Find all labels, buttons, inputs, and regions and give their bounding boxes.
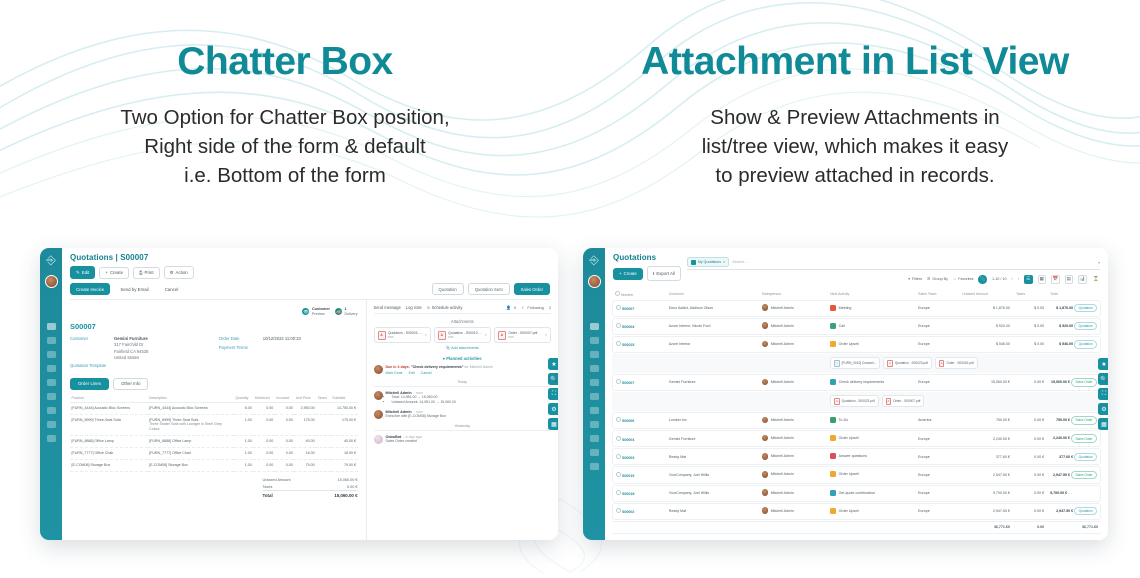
cell-taxes xyxy=(316,459,331,471)
cell-salesperson: Mitchell Admin xyxy=(759,318,827,335)
order-line-row[interactable]: [FURN_8999] Three-Seat Sofa[FURN_8999] T… xyxy=(70,414,358,436)
list-breadcrumb: Quotations xyxy=(613,253,681,262)
filters-button[interactable]: ▾Filters xyxy=(908,277,922,281)
attachment-chip[interactable]: AOrder - S00015.pdf xyxy=(935,357,978,369)
sidebar-icon-home-right[interactable] xyxy=(590,323,599,330)
quotations-table: Number Customer Salesperson Next Activit… xyxy=(612,288,1101,535)
action-button[interactable]: ⚙Action xyxy=(164,266,194,279)
total-grand-label: Total xyxy=(263,493,273,498)
cell-total: 9,700.00 € Quotation Sent xyxy=(1047,485,1101,502)
pager-previous-button[interactable]: ‹ xyxy=(1012,277,1013,281)
cell-untaxed: 750.00 € xyxy=(959,412,1013,429)
export-all-button[interactable]: ⭳Export All xyxy=(647,266,681,281)
activity-subject: "Check delivery requirements" xyxy=(411,365,464,369)
cell-untaxed: 377.60 € xyxy=(959,448,1013,465)
edit-button[interactable]: ✎Edit xyxy=(70,266,95,279)
view-calendar-icon[interactable]: 📅 xyxy=(1051,275,1060,284)
cancel-label: Cancel xyxy=(165,287,179,292)
foot-blank-4 xyxy=(827,521,915,534)
odoo-sidebar-left[interactable]: ⎆ xyxy=(40,248,62,540)
attachment-chip[interactable]: ▢[FURN_0010] Customi... xyxy=(830,357,880,369)
screenshot-list-view: ⎆ Quotations +Create ⭳Export All xyxy=(583,248,1108,540)
following-label: Following xyxy=(527,305,543,310)
lv-col-number-label: Number xyxy=(621,293,633,297)
sidebar-icon-attendance-right[interactable] xyxy=(590,435,599,442)
attachment-remove-icon[interactable]: × xyxy=(425,333,427,337)
cell-next-activity: Call xyxy=(827,318,915,335)
order-line-row[interactable]: [FURN_8888] Office Lamp[FURN_8888] Offic… xyxy=(70,436,358,448)
heading-title-left: Chatter Box xyxy=(0,40,570,85)
col-product[interactable]: Product xyxy=(70,394,148,403)
sidebar-icon-settings[interactable] xyxy=(47,435,56,442)
send-message-button[interactable]: Send message xyxy=(374,305,401,310)
cell-salesperson: Mitchell Admin xyxy=(759,336,827,353)
cell-next-activity: Answer questions xyxy=(827,448,915,465)
pdf-icon: A xyxy=(834,398,840,405)
cell-delivered: 0.00 xyxy=(253,402,275,414)
cell-salesperson: Mitchell Admin xyxy=(759,374,827,391)
record-number: S00002 xyxy=(622,510,634,514)
order-lines-table: Product Description Quantity Delivered I… xyxy=(70,394,358,472)
breadcrumb: Quotations | S00007 xyxy=(70,253,550,262)
cell-total: 15,060.00 € Sales Order xyxy=(1047,374,1101,391)
cell-subtotal: 175.00 € xyxy=(331,414,358,436)
order-line-row[interactable]: [FURN_7777] Office Chair[FURN_7777] Offi… xyxy=(70,448,358,460)
cell-number: S00007 xyxy=(612,300,666,317)
followers-count-value: 0 xyxy=(514,305,516,310)
cell-taxes: $ 0.00 xyxy=(1013,318,1047,335)
pager-next-button[interactable]: › xyxy=(1018,277,1019,281)
cell-number: S00025 xyxy=(612,336,666,353)
field-quotation-template-label: Quotation Template xyxy=(70,363,106,369)
row-checkbox[interactable] xyxy=(616,323,621,328)
attachment-remove-icon[interactable]: × xyxy=(485,333,487,337)
cell-subtotal: 14,750.00 € xyxy=(331,402,358,414)
cancel-button[interactable]: Cancel xyxy=(159,283,185,295)
cell-salesperson: Mitchell Admin xyxy=(759,412,827,429)
floating-toolbar-left: ★ 🔍 ⛶ ⚙ ▦ xyxy=(548,358,558,430)
activity-item: Due in 4 days: "Check delivery requireme… xyxy=(374,365,551,375)
cell-unit-price: 2,950.00 xyxy=(294,402,316,414)
totals-box: Untaxed Amount 15,060.00 € Taxes 0.00 € … xyxy=(263,477,358,500)
view-pivot-icon[interactable]: ▤ xyxy=(1065,275,1074,284)
order-line-row[interactable]: [E-COM08] Storage Box[E-COM08] Storage B… xyxy=(70,459,358,471)
planned-activities-label: ▾ Planned activities xyxy=(374,356,551,361)
avatar xyxy=(762,417,769,424)
activity-body: Due in 4 days: "Check delivery requireme… xyxy=(386,365,493,375)
cell-customer: Gemini Furniture xyxy=(666,430,759,447)
field-payment-terms: Payment Terms xyxy=(219,345,358,351)
print-button[interactable]: ⎙Print xyxy=(133,267,160,279)
stage-sales-order[interactable]: Sales Order xyxy=(514,283,550,295)
cell-taxes: $ 0.00 xyxy=(1013,300,1047,317)
sidebar-icon-purchase-right[interactable] xyxy=(590,379,599,386)
field-order-date: Order Date 10/12/2022 11:00:23 xyxy=(219,336,358,342)
group-by-button[interactable]: ☰Group By xyxy=(927,277,948,281)
search-icon[interactable]: 🔍 xyxy=(548,373,558,385)
heading-desc-right-line2: list/tree view, which makes it easy xyxy=(702,135,1008,158)
row-checkbox[interactable] xyxy=(616,379,621,384)
cell-unit-price: 175.00 xyxy=(294,414,316,436)
quotations-table-foot: 36,771.60 0.00 36,771.60 xyxy=(612,521,1101,534)
foot-taxes-total: 0.00 xyxy=(1013,521,1047,534)
col-delivered[interactable]: Delivered xyxy=(253,394,275,403)
pdf-icon: A xyxy=(378,331,386,340)
foot-blank-3 xyxy=(759,521,827,534)
cell-description: [FURN_8888] Office Lamp xyxy=(148,436,234,448)
list-top-right: My Quotations × Search... ▾ ▾Filters ☰Gr… xyxy=(687,253,1100,288)
cell-salesperson: Mitchell Admin xyxy=(759,485,827,502)
sidebar-icon-invoicing-right[interactable] xyxy=(590,351,599,358)
calendar-icon xyxy=(830,379,836,385)
attachment-row-chips: ▢[FURN_0010] Customi...AQuotation - S000… xyxy=(827,354,1101,373)
cell-sales-team: Europe xyxy=(915,448,959,465)
status-badge: Sales Order xyxy=(1071,471,1097,479)
col-invoiced[interactable]: Invoiced xyxy=(275,394,294,403)
cell-taxes xyxy=(316,448,331,460)
lv-col-customer[interactable]: Customer xyxy=(666,289,759,299)
lv-col-number[interactable]: Number xyxy=(612,289,666,299)
cell-description: [FURN_4444] Acoustic Bloc Screens xyxy=(148,402,234,414)
sidebar-icon-employees[interactable] xyxy=(47,421,56,428)
cell-invoiced: 0.00 xyxy=(275,414,294,436)
col-unit-price[interactable]: Unit Price xyxy=(294,394,316,403)
sidebar-icon-apps-right[interactable] xyxy=(590,449,599,456)
attachment-chip[interactable]: AOrder - S00007.pdfPDF× xyxy=(494,327,551,343)
cell-product: [FURN_8888] Office Lamp xyxy=(70,436,148,448)
lv-col-next-activity[interactable]: Next Activity xyxy=(827,289,915,299)
table-row[interactable]: S00002Ready MatMitchell AdminOrder Upsel… xyxy=(612,503,1101,520)
messages-today: Mitchell Admin- nowTotal: 14,981.00 → 15… xyxy=(374,391,551,419)
mark-done-button[interactable]: Mark Done xyxy=(386,371,403,375)
add-attachments-button[interactable]: 📎 Add attachments xyxy=(374,346,551,350)
record-number: S00007 xyxy=(622,381,634,385)
attachment-chip[interactable]: AQuotation - S00023.pdf xyxy=(883,357,931,369)
row-checkbox[interactable] xyxy=(616,436,621,441)
sidebar-icon-inventory-right[interactable] xyxy=(590,365,599,372)
sidebar-icon-settings-right[interactable] xyxy=(590,463,599,470)
cancel-activity-button[interactable]: Cancel xyxy=(421,371,432,375)
cell-taxes xyxy=(316,436,331,448)
print-button-label: Print xyxy=(145,270,154,275)
sidebar-icon-purchase[interactable] xyxy=(47,379,56,386)
tab-order-lines[interactable]: Order Lines xyxy=(70,378,109,390)
field-order-date-value[interactable]: 10/12/2022 11:00:23 xyxy=(263,336,301,342)
table-row[interactable]: S00004Gemini FurnitureMitchell AdminOrde… xyxy=(612,430,1101,447)
lv-col-sales-team[interactable]: Sales Team xyxy=(915,289,959,299)
record-number: S00006 xyxy=(622,419,634,423)
cell-customer: Lumber Inc xyxy=(666,412,759,429)
cell-customer: YourCompany, Joel Willis xyxy=(666,485,759,502)
followers-num[interactable]: 2 xyxy=(549,305,551,310)
cell-invoiced: 0.00 xyxy=(275,448,294,460)
attachment-row: ▢[FURN_0010] Customi...AQuotation - S000… xyxy=(612,354,1101,373)
col-quantity[interactable]: Quantity xyxy=(234,394,253,403)
status-badge: Quotation xyxy=(1074,507,1097,515)
list-view-body: Quotations +Create ⭳Export All My Quotat… xyxy=(605,248,1108,540)
view-activity-icon[interactable]: ⏳ xyxy=(1092,275,1101,284)
avatar xyxy=(762,304,769,311)
view-kanban-icon[interactable]: ▦ xyxy=(1038,275,1047,284)
calendar-icon xyxy=(830,490,836,496)
smart-label-1: Delivery xyxy=(345,312,358,316)
sidebar-icon-inventory[interactable] xyxy=(47,365,56,372)
customer-addr1: 317 Fairchild Dr xyxy=(114,342,148,348)
cell-taxes xyxy=(316,402,331,414)
filter-chip-label: My Quotations xyxy=(698,260,721,264)
log-note-button[interactable]: Log note xyxy=(406,305,422,310)
schedule-activity-button[interactable]: Schedule activity xyxy=(427,305,463,310)
table-row[interactable]: S00018YourCompany, Joel WillisMitchell A… xyxy=(612,485,1101,502)
followers-count[interactable]: 👤 0 xyxy=(506,305,516,310)
row-checkbox[interactable] xyxy=(616,508,621,513)
status-badge: Sales Order xyxy=(1071,416,1097,424)
cell-subtotal: 16.00 € xyxy=(331,448,358,460)
message-body: Mitchell Admin- nowExtra line with [E-CO… xyxy=(386,410,447,419)
cell-number: S00004 xyxy=(612,430,666,447)
cell-customer: Ready Mat xyxy=(666,503,759,520)
attachment-row-spacer xyxy=(612,392,827,411)
order-line-row[interactable]: [FURN_4444] Acoustic Bloc Screens[FURN_4… xyxy=(70,402,358,414)
cell-untaxed: $ 546.00 xyxy=(959,336,1013,353)
following-button[interactable]: ✓ Following xyxy=(521,305,544,310)
list-top-left: Quotations +Create ⭳Export All xyxy=(613,253,681,281)
sidebar-icon-sales[interactable] xyxy=(47,337,56,344)
lv-col-total[interactable]: Total xyxy=(1047,289,1101,299)
sidebar-icon-sales-right[interactable] xyxy=(590,337,599,344)
screenshot-form-view: ⎆ Quotations | S00007 ✎Edit +Create ⎙Pri… xyxy=(40,248,558,540)
search-bar: My Quotations × Search... ▾ xyxy=(687,253,1100,272)
eye-icon: 👁 xyxy=(302,308,309,315)
day-separator-today: Today xyxy=(374,380,551,387)
cell-number: S00006 xyxy=(612,412,666,429)
close-icon[interactable]: × xyxy=(723,260,725,264)
heading-desc-left: Two Option for Chatter Box position, Rig… xyxy=(0,103,570,190)
lv-col-salesperson[interactable]: Salesperson xyxy=(759,289,827,299)
user-avatar-right[interactable] xyxy=(588,275,601,288)
user-avatar[interactable] xyxy=(45,275,58,288)
tab-other-info[interactable]: Other Info xyxy=(113,378,149,390)
form-view-body: Quotations | S00007 ✎Edit +Create ⎙Print… xyxy=(62,248,558,540)
smart-button-customer-preview[interactable]: 👁 Customer Preview xyxy=(302,307,330,316)
status-badge: Quotation xyxy=(1074,453,1097,461)
cell-total: $ 520.00 Quotation xyxy=(1047,318,1101,335)
form-action-buttons: ✎Edit +Create ⎙Print ⚙Action xyxy=(70,266,550,279)
message-bullets: Total: 14,981.00 → 15,060.00Untaxed Amou… xyxy=(386,395,456,406)
lv-col-untaxed[interactable]: Untaxed Amount xyxy=(959,289,1013,299)
sidebar-icon-employees-right[interactable] xyxy=(590,421,599,428)
message-avatar xyxy=(374,410,383,419)
record-title: S00007 xyxy=(70,322,358,331)
row-checkbox[interactable] xyxy=(616,417,621,422)
meeting-icon xyxy=(830,305,836,311)
record-number: S00004 xyxy=(622,438,634,442)
cell-untaxed: 9,700.00 € xyxy=(959,485,1013,502)
cell-number: S00002 xyxy=(612,503,666,520)
foot-blank-1 xyxy=(612,521,666,534)
cell-customer: Ready Mat xyxy=(666,448,759,465)
attachment-toggle-icon[interactable]: 📎 xyxy=(978,275,987,284)
message-time: - now xyxy=(414,410,423,414)
sidebar-icon-project[interactable] xyxy=(47,407,56,414)
cell-number: S00004 xyxy=(612,318,666,335)
layout-icon-right[interactable]: ▦ xyxy=(1098,418,1108,430)
cell-invoiced: 0.00 xyxy=(275,402,294,414)
row-checkbox[interactable] xyxy=(616,305,621,310)
smart-button-delivery[interactable]: 🚚 1 Delivery xyxy=(335,307,357,316)
field-customer-value[interactable]: Gemini Furniture 317 Fairchild Dr Fairfi… xyxy=(114,336,148,360)
table-row[interactable]: S00006Lumber IncMitchell AdminTo-DoAmeri… xyxy=(612,412,1101,429)
row-checkbox[interactable] xyxy=(616,341,621,346)
view-list-icon[interactable]: ☰ xyxy=(1024,275,1033,284)
list-create-button[interactable]: +Create xyxy=(613,268,643,280)
chatter-message: Mitchell Admin- nowTotal: 14,981.00 → 15… xyxy=(374,391,551,406)
smart-label-0b: Preview xyxy=(312,312,325,316)
cell-product: [FURN_8999] Three-Seat Sofa xyxy=(70,414,148,436)
cell-taxes xyxy=(316,414,331,436)
send-by-email-button[interactable]: Send by Email xyxy=(114,283,154,295)
sidebar-icon-project-right[interactable] xyxy=(590,407,599,414)
message-avatar xyxy=(374,435,383,444)
odoo-sidebar-right[interactable]: ⎆ xyxy=(583,248,605,540)
activity-due: Due in 4 days: "Check delivery requireme… xyxy=(386,365,493,369)
create-invoice-label: Create Invoice xyxy=(76,287,104,292)
heading-desc-right-line3: to preview attached in records. xyxy=(715,164,994,187)
print-icon: ⎙ xyxy=(139,270,143,275)
expand-icon[interactable]: ⛶ xyxy=(548,388,558,400)
cell-salesperson: Mitchell Admin xyxy=(759,430,827,447)
edit-activity-button[interactable]: Edit xyxy=(409,371,415,375)
heading-column-chatter-box: Chatter Box Two Option for Chatter Box p… xyxy=(0,40,570,190)
paperclip-icon: 📎 xyxy=(446,346,451,350)
sidebar-icon-crm[interactable] xyxy=(47,393,56,400)
select-all-checkbox[interactable] xyxy=(615,291,620,296)
create-invoice-button[interactable]: Create Invoice xyxy=(70,283,110,295)
search-icon-right[interactable]: 🔍 xyxy=(1098,373,1108,385)
customer-addr3: United States xyxy=(114,355,148,361)
status-badge: Quotation xyxy=(1074,304,1097,312)
attachment-chip[interactable]: AQuotation - S00023.pdf xyxy=(830,395,878,407)
table-row[interactable]: S00007Deco Addict, Addison OlsonMitchell… xyxy=(612,300,1101,317)
order-lines-header-row: Product Description Quantity Delivered I… xyxy=(70,394,358,403)
cell-untaxed: 15,060.00 € xyxy=(959,374,1013,391)
cell-customer: Deco Addict, Addison Olson xyxy=(666,300,759,317)
cell-sales-team: Europe xyxy=(915,485,959,502)
total-grand-value: 15,060.00 € xyxy=(334,493,357,498)
message-bullet: Untaxed Amount: 14,981.00 → 15,060.00 xyxy=(392,400,456,405)
star-icon-right[interactable]: ★ xyxy=(1098,358,1108,370)
stage-quotation-sent[interactable]: Quotation Sent xyxy=(468,283,510,295)
cell-customer: Azure Interior xyxy=(666,336,759,353)
table-row[interactable]: S00004Azure Interior, Nicole FordMitchel… xyxy=(612,318,1101,335)
col-description[interactable]: Description xyxy=(148,394,234,403)
cell-quantity: 1.00 xyxy=(234,448,253,460)
attachment-chip[interactable]: AQuotation - S00023.pdfPDF× xyxy=(374,327,431,343)
filter-chip-my-quotations[interactable]: My Quotations × xyxy=(687,257,729,267)
table-row[interactable]: S00003Ready MatMitchell AdminAnswer ques… xyxy=(612,448,1101,465)
cell-description: [FURN_7777] Office Chair xyxy=(148,448,234,460)
col-subtotal[interactable]: Subtotal xyxy=(331,394,358,403)
activity-assignee: for Mitchell Admin xyxy=(464,365,492,369)
plus-icon-list: + xyxy=(619,271,622,276)
settings-icon[interactable]: ⚙ xyxy=(548,403,558,415)
cell-taxes: 0.00 € xyxy=(1013,430,1047,447)
filters-label: Filters xyxy=(912,277,922,281)
order-lines-head: Product Description Quantity Delivered I… xyxy=(70,394,358,403)
attachment-remove-icon[interactable]: × xyxy=(545,333,547,337)
table-row[interactable]: S00007Gemini FurnitureMitchell AdminChec… xyxy=(612,374,1101,391)
order-lines-body: [FURN_4444] Acoustic Bloc Screens[FURN_4… xyxy=(70,402,358,471)
activity-actions: Mark Done Edit Cancel xyxy=(386,371,493,375)
attachment-chip[interactable]: AOrder - S00007.pdf xyxy=(882,395,925,407)
total-grand: Total 15,060.00 € xyxy=(263,490,358,499)
row-checkbox[interactable] xyxy=(616,472,621,477)
stage-quotation[interactable]: Quotation xyxy=(432,283,464,295)
cell-description: [E-COM08] Storage Box xyxy=(148,459,234,471)
layout-icon[interactable]: ▦ xyxy=(548,418,558,430)
cell-sales-team: Europe xyxy=(915,466,959,483)
cell-salesperson: Mitchell Admin xyxy=(759,300,827,317)
total-taxes-label: Taxes xyxy=(263,485,273,489)
record-number: S00019 xyxy=(622,474,634,478)
lv-col-taxes[interactable]: Taxes xyxy=(1013,289,1047,299)
expand-icon-right[interactable]: ⛶ xyxy=(1098,388,1108,400)
row-checkbox[interactable] xyxy=(616,454,621,459)
settings-icon-right[interactable]: ⚙ xyxy=(1098,403,1108,415)
order-totals: Untaxed Amount 15,060.00 € Taxes 0.00 € … xyxy=(70,477,358,500)
record-number: S00004 xyxy=(622,325,634,329)
total-taxes-value: 0.00 € xyxy=(347,485,358,489)
filter-icon: ▾ xyxy=(908,277,910,281)
planned-activities-text: Planned activities xyxy=(446,356,481,361)
list-create-label: Create xyxy=(624,271,637,276)
odoo-logo-icon: ⎆ xyxy=(44,253,59,268)
sidebar-icon-invoicing[interactable] xyxy=(47,351,56,358)
status-bar: Create Invoice Send by Email Cancel Quot… xyxy=(70,283,550,300)
create-button[interactable]: +Create xyxy=(99,267,129,279)
cell-product: [E-COM08] Storage Box xyxy=(70,459,148,471)
sidebar-icon-home[interactable] xyxy=(47,323,56,330)
total-untaxed-value: 15,060.00 € xyxy=(337,478,357,482)
cell-total: $ 546.00 Quotation xyxy=(1047,336,1101,353)
odoo-logo-icon-right: ⎆ xyxy=(587,253,602,268)
quotations-table-head: Number Customer Salesperson Next Activit… xyxy=(612,289,1101,299)
search-input[interactable]: My Quotations × Search... ▾ xyxy=(687,257,1100,270)
heading-desc-left-line3: i.e. Bottom of the form xyxy=(184,164,386,187)
form-fields-left: Customer Gemini Furniture 317 Fairchild … xyxy=(70,336,209,371)
upsell-icon xyxy=(830,435,836,441)
table-row[interactable]: S00025Azure InteriorMitchell AdminOrder … xyxy=(612,336,1101,353)
col-taxes[interactable]: Taxes xyxy=(316,394,331,403)
list-top-bar: Quotations +Create ⭳Export All My Quotat… xyxy=(605,248,1108,288)
cell-quantity: 1.00 xyxy=(234,459,253,471)
cell-delivered: 0.00 xyxy=(253,436,275,448)
total-untaxed: Untaxed Amount 15,060.00 € xyxy=(263,477,358,484)
view-graph-icon[interactable]: 📊 xyxy=(1078,275,1087,284)
chevron-down-icon-search[interactable]: ▾ xyxy=(1098,260,1100,265)
customer-name: Gemini Furniture xyxy=(114,336,148,341)
attachment-chip[interactable]: AQuotation - S00010.pdfPDF× xyxy=(434,327,491,343)
row-checkbox[interactable] xyxy=(616,490,621,495)
star-icon[interactable]: ★ xyxy=(548,358,558,370)
cell-sales-team: Europe xyxy=(915,318,959,335)
add-attachments-label: Add attachments xyxy=(451,346,479,350)
cell-number: S00018 xyxy=(612,485,666,502)
table-row[interactable]: S00019YourCompany, Joel WillisMitchell A… xyxy=(612,466,1101,483)
favorites-button[interactable]: ☆Favorites xyxy=(953,277,973,281)
cell-untaxed: 2,947.50 € xyxy=(959,466,1013,483)
sidebar-icon-crm-right[interactable] xyxy=(590,393,599,400)
